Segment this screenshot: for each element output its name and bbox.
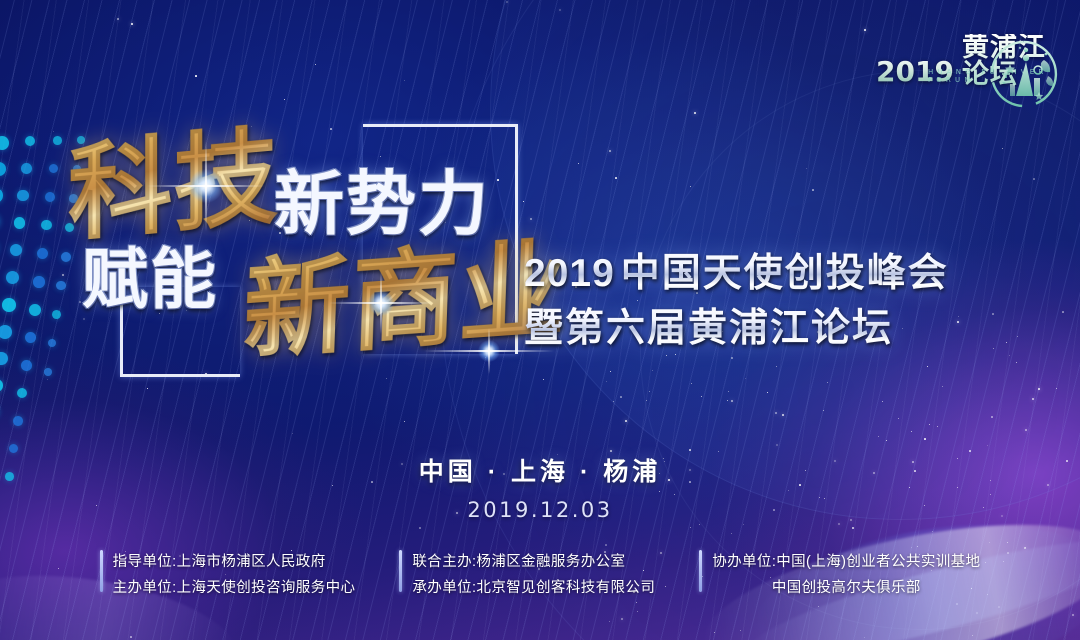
- organizer-line: 指导单位:上海市杨浦区人民政府: [113, 550, 356, 571]
- main-title-block: 科技 新势力 赋能 新商业: [58, 96, 528, 381]
- organizer-line: 主办单位:上海天使创投咨询服务中心: [113, 576, 356, 597]
- organizer-column-divider: [399, 550, 402, 592]
- event-info-block: 中国 · 上海 · 杨浦 2019.12.03: [0, 452, 1080, 522]
- event-poster: 2019 黄浦江论坛 HUANG PU RIVER FORUM: [0, 0, 1080, 640]
- subtitle-text-1: 中国天使创投峰会: [621, 252, 949, 295]
- organizer-column: 协办单位:中国(上海)创业者公共实训基地中国创投高尔夫俱乐部: [699, 550, 980, 597]
- event-date: 2019.12.03: [0, 498, 1080, 522]
- organizer-column-divider: [100, 550, 103, 592]
- subtitle-line-1: 2019中国天使创投峰会: [524, 246, 1024, 301]
- organizer-lines: 协办单位:中国(上海)创业者公共实训基地中国创投高尔夫俱乐部: [712, 550, 980, 597]
- subtitle-line-2: 暨第六届黄浦江论坛: [524, 301, 1024, 356]
- subtitle-block: 2019中国天使创投峰会 暨第六届黄浦江论坛: [524, 246, 1024, 357]
- title-word-funeng: 赋能: [82, 226, 218, 322]
- organizer-footer: 指导单位:上海市杨浦区人民政府主办单位:上海天使创投咨询服务中心联合主办:杨浦区…: [0, 550, 1080, 612]
- organizer-line: 中国创投高尔夫俱乐部: [712, 576, 980, 597]
- event-location: 中国 · 上海 · 杨浦: [0, 452, 1080, 488]
- organizer-column-divider: [699, 550, 702, 592]
- organizer-lines: 联合主办:杨浦区金融服务办公室承办单位:北京智见创客科技有限公司: [412, 550, 655, 597]
- organizer-lines: 指导单位:上海市杨浦区人民政府主办单位:上海天使创投咨询服务中心: [113, 550, 356, 597]
- subtitle-year: 2019: [524, 252, 615, 295]
- shanghai-skyline-circle-emblem: [986, 36, 1062, 112]
- title-word-xinshangye: 新商业: [242, 202, 571, 379]
- organizer-line: 承办单位:北京智见创客科技有限公司: [412, 576, 655, 597]
- forum-logo: 2019 黄浦江论坛 HUANG PU RIVER FORUM: [876, 24, 1056, 112]
- organizer-column: 指导单位:上海市杨浦区人民政府主办单位:上海天使创投咨询服务中心: [100, 550, 356, 597]
- organizer-column: 联合主办:杨浦区金融服务办公室承办单位:北京智见创客科技有限公司: [399, 550, 655, 597]
- organizer-line: 协办单位:中国(上海)创业者公共实训基地: [712, 550, 980, 571]
- organizer-line: 联合主办:杨浦区金融服务办公室: [412, 550, 655, 571]
